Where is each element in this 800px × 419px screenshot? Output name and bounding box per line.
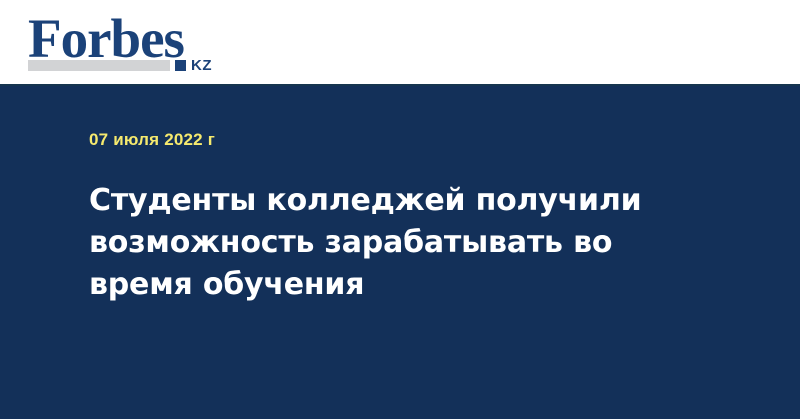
article-body: 07 июля 2022 г Студенты колледжей получи… xyxy=(0,86,800,419)
article-share-card: Forbes KZ 07 июля 2022 г Студенты коллед… xyxy=(0,0,800,419)
forbes-kz-logo[interactable]: Forbes KZ xyxy=(28,11,228,77)
headline-line: возможность зарабатывать во xyxy=(89,222,699,264)
headline-line: время обучения xyxy=(89,264,699,306)
site-header: Forbes KZ xyxy=(0,0,800,85)
article-headline: Студенты колледжей получили возможность … xyxy=(89,180,699,306)
headline-line: Студенты колледжей получили xyxy=(89,180,699,222)
logo-gray-bar xyxy=(28,60,170,71)
article-date: 07 июля 2022 г xyxy=(89,130,215,150)
logo-square-icon xyxy=(175,60,186,71)
logo-kz-suffix: KZ xyxy=(191,58,212,73)
forbes-wordmark: Forbes xyxy=(28,11,184,66)
